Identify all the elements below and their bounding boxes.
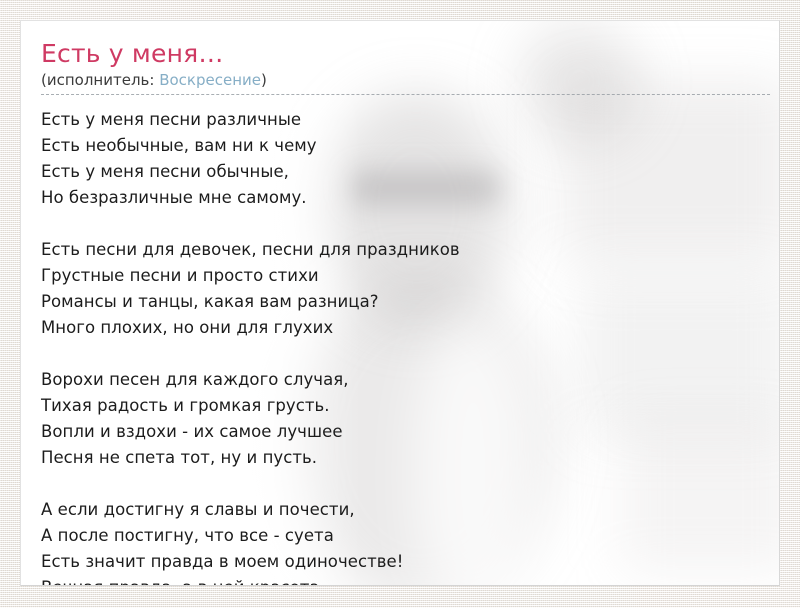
lyrics-stanza: Есть песни для девочек, песни для праздн… [41,237,763,341]
lyrics-stanza: А если достигну я славы и почести,А посл… [41,497,763,586]
lyrics-line: Есть необычные, вам ни к чему [41,133,763,159]
slide-frame: Есть у меня… (исполнитель: Воскресение) … [0,0,800,608]
lyrics-line: Есть у меня песни обычные, [41,159,763,185]
performer-line: (исполнитель: Воскресение) [41,71,763,90]
slide-card: Есть у меня… (исполнитель: Воскресение) … [20,20,780,586]
lyrics-line: Вечная правда, а в ней красота. [41,575,763,586]
lyrics-line: Но безразличные мне самому. [41,185,763,211]
slide-content: Есть у меня… (исполнитель: Воскресение) … [21,21,779,586]
lyrics-line: Есть значит правда в моем одиночестве! [41,549,763,575]
performer-link[interactable]: Воскресение [159,71,261,89]
lyrics-body: Есть у меня песни различныеЕсть необычны… [41,107,763,586]
lyrics-stanza: Ворохи песен для каждого случая,Тихая ра… [41,367,763,471]
lyrics-stanza: Есть у меня песни различныеЕсть необычны… [41,107,763,211]
page-title: Есть у меня… [41,39,763,69]
lyrics-line: Есть у меня песни различные [41,107,763,133]
performer-suffix-label: ) [261,71,267,89]
lyrics-line: А если достигну я славы и почести, [41,497,763,523]
lyrics-line: Ворохи песен для каждого случая, [41,367,763,393]
lyrics-line: Песня не спета тот, ну и пусть. [41,445,763,471]
lyrics-line: Романсы и танцы, какая вам разница? [41,289,763,315]
title-divider [41,94,770,95]
lyrics-line: А после постигну, что все - суета [41,523,763,549]
lyrics-line: Грустные песни и просто стихи [41,263,763,289]
lyrics-line: Много плохих, но они для глухих [41,315,763,341]
performer-prefix-label: (исполнитель: [41,71,159,89]
lyrics-line: Вопли и вздохи - их самое лучшее [41,419,763,445]
lyrics-line: Есть песни для девочек, песни для праздн… [41,237,763,263]
lyrics-line: Тихая радость и громкая грусть. [41,393,763,419]
